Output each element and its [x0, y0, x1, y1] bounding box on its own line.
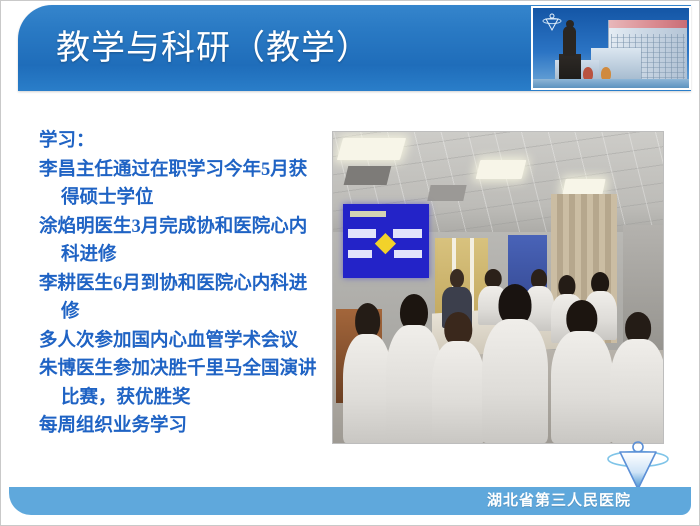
person-body [610, 339, 664, 443]
slide-heading-block [350, 211, 386, 217]
diagram-box [348, 229, 376, 238]
ceiling-vent [344, 166, 392, 185]
seated-person-foreground [482, 284, 548, 443]
body-line: 每周组织业务学习 [39, 412, 324, 441]
plaza-ground [533, 79, 689, 88]
body-line: 学习： [39, 127, 324, 156]
body-line: 多人次参加国内心血管学术会议 [39, 327, 324, 356]
body-line: 李昌主任通过在职学习今年5月获得硕士学位 [39, 156, 324, 213]
hospital-figure-icon [541, 12, 563, 32]
hospital-building-photo [531, 6, 691, 90]
organization-name: 湖北省第三人民医院 [487, 490, 631, 512]
presenter-head [450, 269, 464, 288]
slide-body-text: 学习： 李昌主任通过在职学习今年5月获得硕士学位 涂焰明医生3月完成协和医院心内… [39, 127, 324, 441]
projection-screen [343, 204, 429, 279]
body-line: 李耕医生6月到协和医院心内科进修 [39, 270, 324, 327]
seated-person-foreground [432, 312, 485, 443]
person-body [482, 319, 548, 443]
diagram-box [393, 229, 422, 238]
ceiling-light [336, 138, 405, 160]
conference-room-photo [332, 131, 664, 444]
building-signboard [609, 20, 687, 28]
body-line: 涂焰明医生3月完成协和医院心内科进修 [39, 213, 324, 270]
presentation-slide: 教学与科研（教学） 学习： 李昌主任通过在职学习今年5月获得硕士学位 涂焰明医生… [0, 0, 700, 526]
ceiling-light [476, 160, 527, 179]
diagram-box [348, 250, 372, 258]
person-body [551, 331, 614, 443]
statue-body [563, 26, 576, 56]
body-line: 朱博医生参加决胜千里马全国演讲比赛，获优胜奖 [39, 355, 324, 412]
statue-head [566, 20, 574, 28]
page-title: 教学与科研（教学） [56, 29, 371, 69]
person-body [432, 341, 485, 443]
ceiling-vent [427, 185, 467, 201]
diagram-box [394, 250, 421, 258]
ceiling-light [562, 179, 605, 195]
seated-person-foreground [551, 300, 614, 443]
hospital-figure-logo [601, 439, 675, 491]
slide-footer-bar: 湖北省第三人民医院 [9, 487, 691, 515]
seated-person-foreground [610, 312, 664, 443]
